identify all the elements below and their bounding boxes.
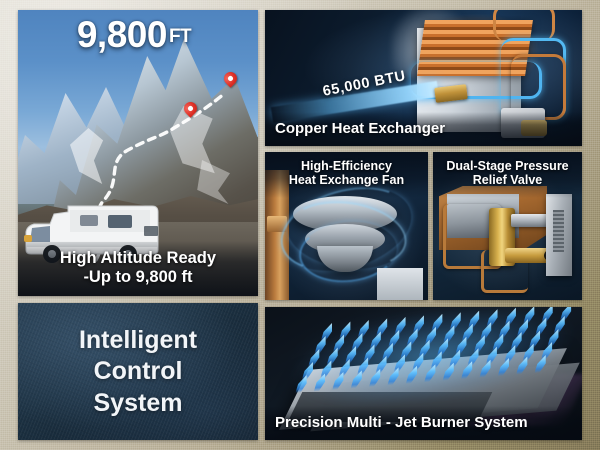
brass-outlet-port (505, 248, 551, 263)
panel-copper-heat-exchanger[interactable]: 65,000 BTU Copper Heat Exchanger (265, 10, 582, 146)
control-system-title: Intelligent Control System (18, 303, 258, 440)
altitude-caption-line1: High Altitude Ready (28, 249, 248, 268)
control-title-line1: Intelligent (79, 325, 197, 356)
panel-high-altitude[interactable]: 9,800FT High Altitude Ready -Up to 9,800… (18, 10, 258, 296)
fan-caption-line1: High-Efficiency (271, 159, 422, 173)
panel-multi-jet-burner[interactable]: Precision Multi - Jet Burner System (265, 307, 582, 440)
fan-caption: High-Efficiency Heat Exchange Fan (265, 152, 428, 198)
map-pin-icon (184, 102, 197, 120)
altitude-unit: FT (169, 26, 191, 47)
valve-caption-line1: Dual-Stage Pressure (439, 159, 576, 173)
control-title-line2: Control (94, 356, 183, 387)
copper-caption: Copper Heat Exchanger (265, 112, 582, 146)
map-pin-icon (224, 72, 237, 90)
altitude-caption-line2: -Up to 9,800 ft (28, 268, 248, 287)
altitude-caption: High Altitude Ready -Up to 9,800 ft (18, 241, 258, 296)
fan-caption-line2: Heat Exchange Fan (271, 173, 422, 187)
altitude-headline: 9,800FT (18, 16, 250, 53)
burner-caption: Precision Multi - Jet Burner System (265, 406, 582, 440)
panel-intelligent-control-system[interactable]: Intelligent Control System (18, 303, 258, 440)
altitude-number: 9,800 (77, 14, 167, 55)
valve-caption: Dual-Stage Pressure Relief Valve (433, 152, 582, 198)
copper-pipe (493, 10, 555, 41)
control-title-line3: System (94, 388, 183, 419)
fan-mount-base (377, 268, 423, 300)
control-panel-module (546, 194, 572, 276)
valve-caption-line2: Relief Valve (439, 173, 576, 187)
infographic-canvas: 9,800FT High Altitude Ready -Up to 9,800… (0, 0, 600, 450)
panel-pressure-relief-valve[interactable]: Dual-Stage Pressure Relief Valve (433, 152, 582, 300)
panel-heat-exchange-fan[interactable]: High-Efficiency Heat Exchange Fan (265, 152, 428, 300)
